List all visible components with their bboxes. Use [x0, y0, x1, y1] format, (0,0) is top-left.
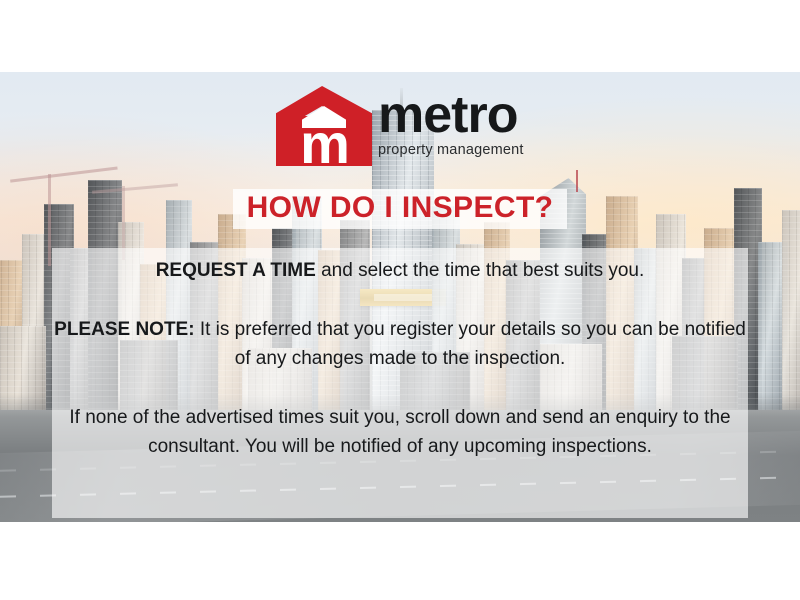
paragraph1-rest: and select the time that best suits you. — [316, 260, 644, 281]
headline-container: HOW DO I INSPECT? — [0, 189, 800, 229]
paragraph2-rest: It is preferred that you register your d… — [195, 319, 746, 369]
building — [782, 210, 800, 410]
paragraph2-lead: PLEASE NOTE: — [54, 319, 194, 340]
paragraph-enquiry: If none of the advertised times suit you… — [52, 403, 748, 461]
metro-wordmark: metro property management — [378, 86, 524, 158]
slide-frame: m metro property management HOW DO I INS… — [0, 0, 800, 600]
page-title: HOW DO I INSPECT? — [233, 189, 568, 229]
wordmark-tagline: property management — [378, 142, 524, 158]
body-copy: REQUEST A TIME and select the time that … — [52, 252, 748, 461]
wordmark-text: metro — [378, 90, 524, 140]
paragraph-request-a-time: REQUEST A TIME and select the time that … — [52, 256, 748, 285]
metro-house-m-logo-icon: m — [276, 86, 372, 166]
paragraph1-lead: REQUEST A TIME — [156, 260, 316, 281]
metro-logo[interactable]: m metro property management — [276, 86, 526, 168]
paragraph-please-note: PLEASE NOTE: It is preferred that you re… — [52, 315, 748, 373]
paragraph3-text: If none of the advertised times suit you… — [69, 407, 730, 457]
logo-letter-m: m — [298, 122, 350, 166]
